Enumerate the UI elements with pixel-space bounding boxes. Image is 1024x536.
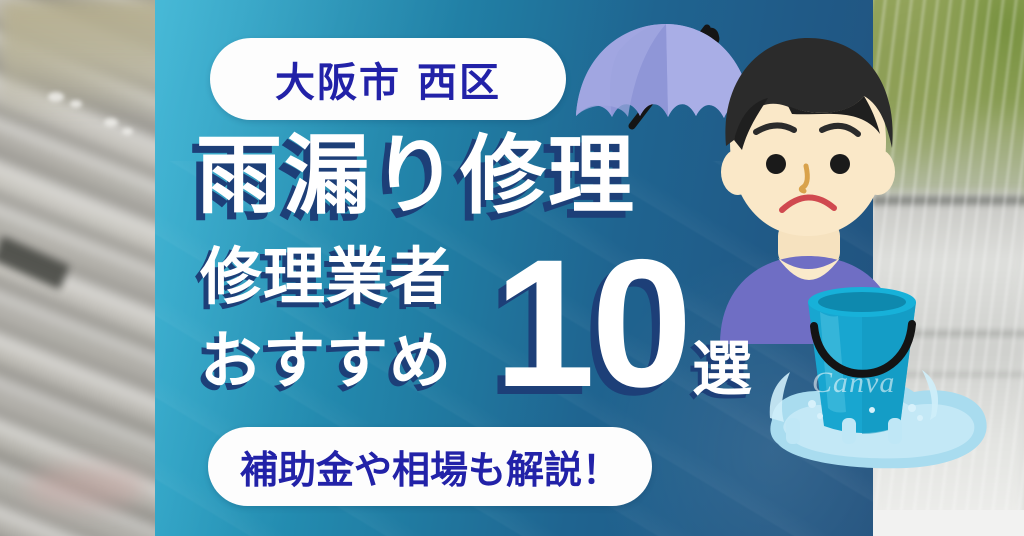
blurred-roof-photo [0,0,172,536]
location-badge: 大阪市 西区 [210,38,566,120]
roof-speck [70,100,82,108]
subtitle-line-2: おすすめ [200,330,452,392]
number-suffix: 選 [692,340,752,400]
subsidy-badge-label: 補助金や相場も解説！ [240,439,620,494]
location-badge-label: 大阪市 西区 [275,50,501,108]
subtitle-line-1: 修理業者 [200,246,452,308]
roof-speck [48,92,64,102]
page-title: 雨漏り修理 [196,132,636,220]
banner-root: Canva 大阪市 西区 雨漏り修理 修理業者 おすすめ 10 選 補助金や相場… [0,0,1024,536]
roof-discolored-patch [26,466,146,508]
big-number: 10 [494,232,688,414]
roof-speck [104,118,118,127]
roof-speck [122,128,133,135]
subsidy-badge: 補助金や相場も解説！ [208,427,652,506]
photo-bottom-strip [870,510,1024,536]
leaking-bucket-illustration [760,268,1010,478]
roof-moss-area [0,0,172,120]
